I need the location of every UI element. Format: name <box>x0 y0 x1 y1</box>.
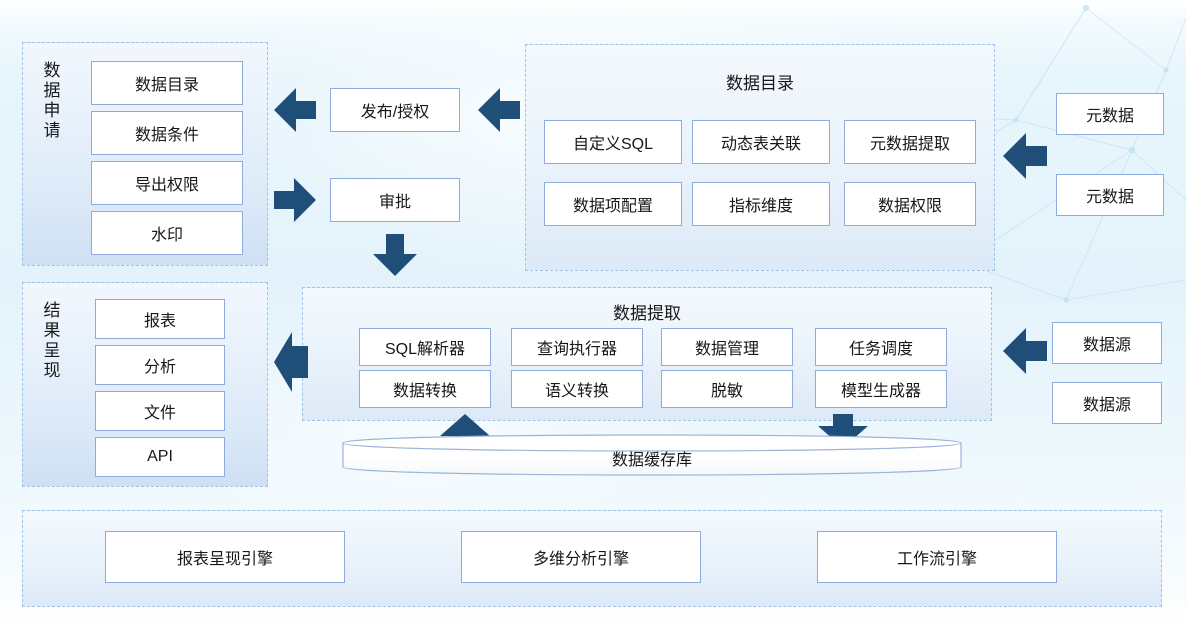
arrow-down-approval-to-extract <box>373 234 417 276</box>
box-workflow-engine[interactable]: 工作流引擎 <box>817 531 1057 583</box>
box-approval[interactable]: 审批 <box>330 178 460 222</box>
box-metric-dimension[interactable]: 指标维度 <box>692 182 830 226</box>
box-semantic-transform[interactable]: 语义转换 <box>511 370 643 408</box>
panel-data-application: 数据申请 数据目录 数据条件 导出权限 水印 <box>22 42 268 266</box>
box-report-engine[interactable]: 报表呈现引擎 <box>105 531 345 583</box>
box-sql-parser[interactable]: SQL解析器 <box>359 328 491 366</box>
diagram-canvas: 数据申请 数据目录 数据条件 导出权限 水印 结果呈现 报表 分析 文件 API… <box>0 0 1186 630</box>
arrow-left-publish-to-application <box>274 88 316 132</box>
panel-data-extraction-title: 数据提取 <box>303 299 991 324</box>
cylinder-data-cache-label: 数据缓存库 <box>342 446 962 470</box>
box-analysis[interactable]: 分析 <box>95 345 225 385</box>
box-data-condition[interactable]: 数据条件 <box>91 111 243 155</box>
box-data-permission[interactable]: 数据权限 <box>844 182 976 226</box>
cylinder-data-cache: 数据缓存库 <box>342 434 962 476</box>
box-data-catalog-request[interactable]: 数据目录 <box>91 61 243 105</box>
box-api[interactable]: API <box>95 437 225 477</box>
arrow-left-metadata-to-catalog <box>1003 133 1047 179</box>
panel-data-catalog-title: 数据目录 <box>526 69 994 94</box>
panel-engines: 报表呈现引擎 多维分析引擎 工作流引擎 <box>22 510 1162 607</box>
box-export-permission[interactable]: 导出权限 <box>91 161 243 205</box>
box-datasource-1[interactable]: 数据源 <box>1052 322 1162 364</box>
panel-result-presentation: 结果呈现 报表 分析 文件 API <box>22 282 268 487</box>
box-task-scheduling[interactable]: 任务调度 <box>815 328 947 366</box>
box-query-executor[interactable]: 查询执行器 <box>511 328 643 366</box>
box-report[interactable]: 报表 <box>95 299 225 339</box>
box-publish-authorize[interactable]: 发布/授权 <box>330 88 460 132</box>
panel-data-extraction: 数据提取 SQL解析器 查询执行器 数据管理 任务调度 数据转换 语义转换 脱敏… <box>302 287 992 421</box>
box-datasource-2[interactable]: 数据源 <box>1052 382 1162 424</box>
box-data-item-config[interactable]: 数据项配置 <box>544 182 682 226</box>
box-data-masking[interactable]: 脱敏 <box>661 370 793 408</box>
arrow-left-extract-to-results <box>274 332 308 392</box>
box-data-transform[interactable]: 数据转换 <box>359 370 491 408</box>
panel-data-catalog: 数据目录 自定义SQL 动态表关联 元数据提取 数据项配置 指标维度 数据权限 <box>525 44 995 271</box>
arrow-left-catalog-to-publish <box>478 88 520 132</box>
arrow-left-datasource-to-extract <box>1003 328 1047 374</box>
box-data-management[interactable]: 数据管理 <box>661 328 793 366</box>
box-model-generator[interactable]: 模型生成器 <box>815 370 947 408</box>
box-watermark[interactable]: 水印 <box>91 211 243 255</box>
box-dynamic-table-join[interactable]: 动态表关联 <box>692 120 830 164</box>
panel-data-application-label: 数据申请 <box>41 61 63 141</box>
box-metadata-extract[interactable]: 元数据提取 <box>844 120 976 164</box>
box-custom-sql[interactable]: 自定义SQL <box>544 120 682 164</box>
box-file[interactable]: 文件 <box>95 391 225 431</box>
arrow-right-application-to-approval <box>274 178 316 222</box>
panel-result-presentation-label: 结果呈现 <box>41 301 63 381</box>
box-metadata-2[interactable]: 元数据 <box>1056 174 1164 216</box>
box-olap-engine[interactable]: 多维分析引擎 <box>461 531 701 583</box>
box-metadata-1[interactable]: 元数据 <box>1056 93 1164 135</box>
